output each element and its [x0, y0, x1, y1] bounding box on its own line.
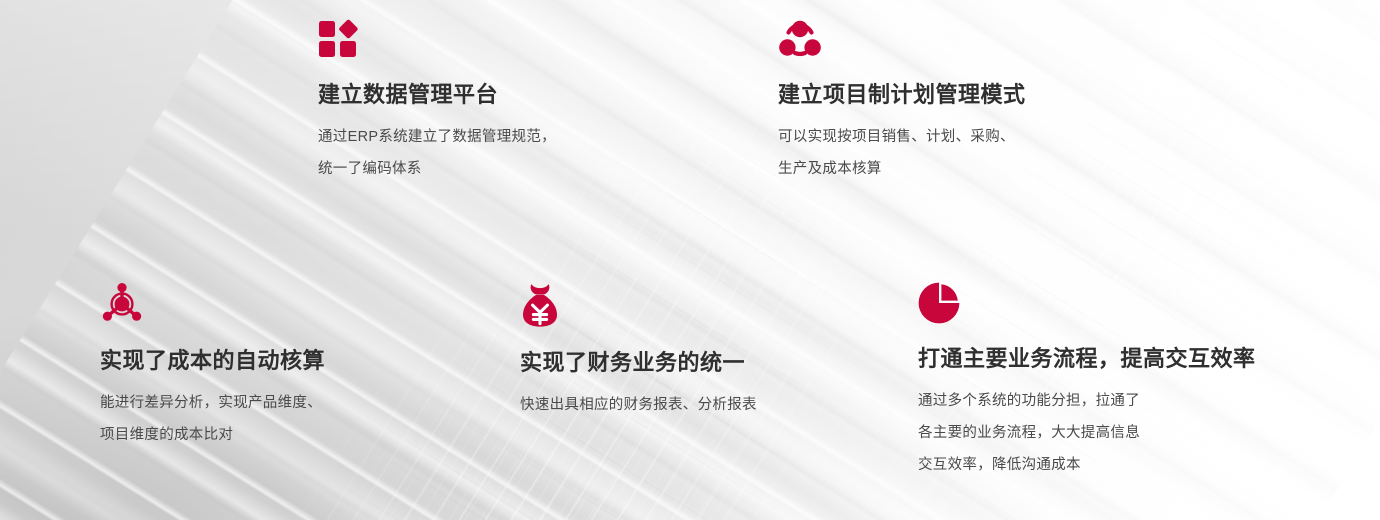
feature-description-line: 通过ERP系统建立了数据管理规范，	[318, 121, 556, 153]
feature-description-line: 快速出具相应的财务报表、分析报表	[520, 389, 757, 421]
money-bag-yen-icon	[520, 282, 757, 333]
feature-description-line: 能进行差异分析，实现产品维度、	[100, 387, 325, 419]
feature-highlights-banner: 建立数据管理平台 通过ERP系统建立了数据管理规范， 统一了编码体系	[0, 0, 1380, 520]
feature-description: 可以实现按项目销售、计划、采购、 生产及成本核算	[778, 121, 1026, 185]
feature-item-process-integration: 打通主要业务流程，提高交互效率 通过多个系统的功能分担，拉通了 各主要的业务流程…	[918, 282, 1256, 481]
feature-description-line: 各主要的业务流程，大大提高信息	[918, 417, 1256, 449]
feature-title: 打通主要业务流程，提高交互效率	[918, 345, 1256, 373]
feature-grid: 建立数据管理平台 通过ERP系统建立了数据管理规范， 统一了编码体系	[0, 0, 1380, 520]
hub-network-icon	[100, 282, 325, 331]
squares-diamond-icon	[318, 18, 556, 65]
feature-description-line: 生产及成本核算	[778, 153, 1026, 185]
feature-description: 快速出具相应的财务报表、分析报表	[520, 389, 757, 421]
feature-title: 实现了成本的自动核算	[100, 347, 325, 375]
feature-description-line: 交互效率，降低沟通成本	[918, 449, 1256, 481]
feature-description-line: 通过多个系统的功能分担，拉通了	[918, 385, 1256, 417]
feature-description-line: 可以实现按项目销售、计划、采购、	[778, 121, 1026, 153]
feature-title: 建立数据管理平台	[318, 81, 556, 109]
feature-description-line: 项目维度的成本比对	[100, 419, 325, 451]
molecule-nodes-icon	[778, 18, 1026, 65]
feature-description-line: 统一了编码体系	[318, 153, 556, 185]
feature-item-project-planning: 建立项目制计划管理模式 可以实现按项目销售、计划、采购、 生产及成本核算	[778, 18, 1026, 185]
feature-title: 建立项目制计划管理模式	[778, 81, 1026, 109]
feature-description: 通过多个系统的功能分担，拉通了 各主要的业务流程，大大提高信息 交互效率，降低沟…	[918, 385, 1256, 481]
feature-item-cost-accounting: 实现了成本的自动核算 能进行差异分析，实现产品维度、 项目维度的成本比对	[100, 282, 325, 451]
pie-chart-icon	[918, 282, 1256, 329]
feature-description: 能进行差异分析，实现产品维度、 项目维度的成本比对	[100, 387, 325, 451]
feature-item-finance-unification: 实现了财务业务的统一 快速出具相应的财务报表、分析报表	[520, 282, 757, 421]
feature-description: 通过ERP系统建立了数据管理规范， 统一了编码体系	[318, 121, 556, 185]
feature-item-data-platform: 建立数据管理平台 通过ERP系统建立了数据管理规范， 统一了编码体系	[318, 18, 556, 185]
feature-title: 实现了财务业务的统一	[520, 349, 757, 377]
